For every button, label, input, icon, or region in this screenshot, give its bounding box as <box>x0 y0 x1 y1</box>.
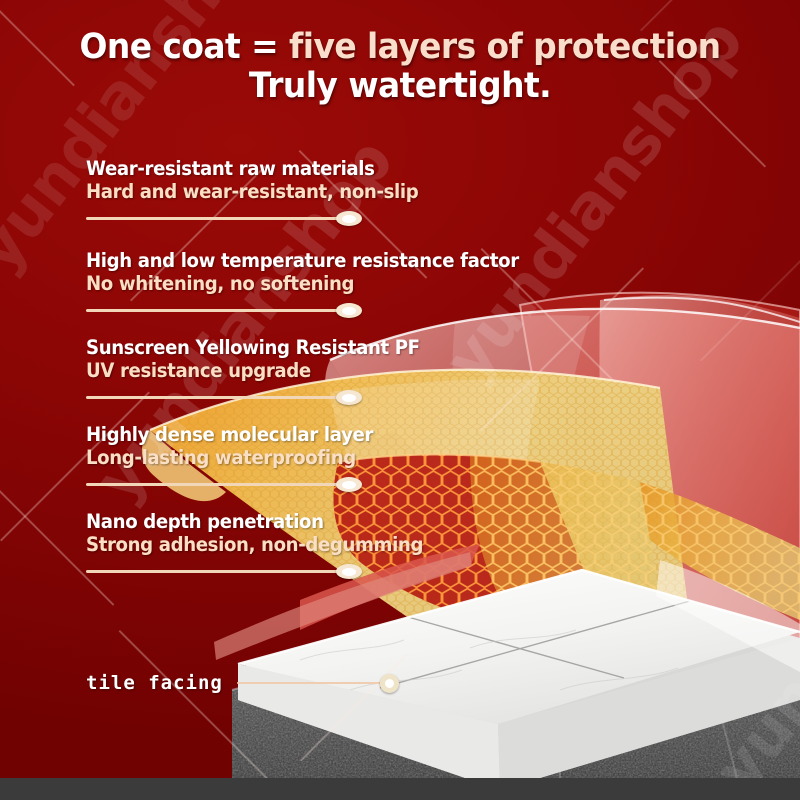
feature-block: High and low temperature resistance fact… <box>86 250 551 317</box>
headline-part2: five layers of protection <box>289 27 721 67</box>
feature-connector <box>86 211 362 225</box>
feature-title: Highly dense molecular layer <box>86 424 373 445</box>
feature-subtitle: No whitening, no softening <box>86 273 519 294</box>
connector-line <box>86 483 354 486</box>
connector-knob-icon <box>336 390 362 405</box>
watermark-yundianshop: yundianshop <box>700 415 800 800</box>
feature-connector <box>86 564 362 578</box>
tile-facing-knob-icon <box>380 674 399 693</box>
feature-title: High and low temperature resistance fact… <box>86 250 519 271</box>
connector-line <box>86 217 354 220</box>
feature-subtitle: Strong adhesion, non-degumming <box>86 534 423 555</box>
connector-knob-icon <box>336 477 362 492</box>
feature-subtitle: Long-lasting waterproofing <box>86 447 373 468</box>
headline-part1: One coat = <box>80 27 289 67</box>
product-infographic: yundianshop yundianshop yundianshop yund… <box>0 0 800 800</box>
connector-line <box>86 570 354 573</box>
feature-subtitle: Hard and wear-resistant, non-slip <box>86 181 418 202</box>
connector-knob-icon <box>336 564 362 579</box>
feature-block: Nano depth penetration Strong adhesion, … <box>86 511 448 578</box>
headline-line2: Truly watertight. <box>24 67 776 106</box>
feature-block: Sunscreen Yellowing Resistant PF UV resi… <box>86 337 445 404</box>
footer-strip <box>0 778 800 800</box>
feature-subtitle: UV resistance upgrade <box>86 360 420 381</box>
connector-knob-icon <box>336 303 362 318</box>
tile-facing-text: tile facing <box>86 672 223 694</box>
tile-facing-connector-line <box>237 682 383 685</box>
feature-block: Wear-resistant raw materials Hard and we… <box>86 158 443 225</box>
connector-line <box>86 309 354 312</box>
feature-title: Wear-resistant raw materials <box>86 158 418 179</box>
connector-knob-icon <box>336 211 362 226</box>
feature-title: Nano depth penetration <box>86 511 423 532</box>
headline: One coat = five layers of protection Tru… <box>24 28 776 106</box>
connector-line <box>86 396 354 399</box>
feature-connector <box>86 390 362 404</box>
feature-block: Highly dense molecular layer Long-lastin… <box>86 424 395 491</box>
tile-facing-label: tile facing <box>86 672 399 694</box>
feature-title: Sunscreen Yellowing Resistant PF <box>86 337 420 358</box>
feature-connector <box>86 303 362 317</box>
feature-connector <box>86 477 362 491</box>
